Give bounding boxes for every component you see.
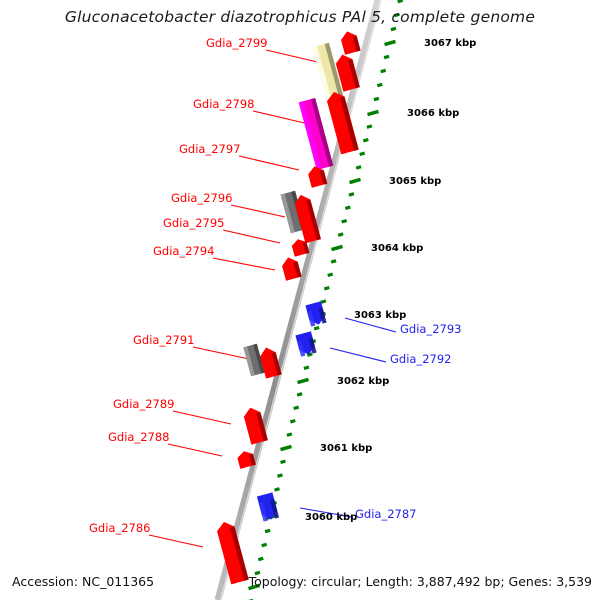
ruler-tick [398,0,403,1]
gene-blue-2792[interactable] [295,331,316,356]
ruler-tick-label: 3063 kbp [354,310,406,321]
ruler-tick [391,28,396,29]
ruler-tick [281,446,292,449]
gene-label-gdia_2791[interactable]: Gdia_2791 [133,334,194,346]
ruler-tick [368,111,379,114]
ruler-tick [290,420,295,421]
ruler-tick [332,246,343,249]
gene-leader-line [149,535,203,547]
ruler-tick-label: 3061 kbp [320,443,372,454]
ruler-tick [342,220,347,221]
gene-red-2791[interactable] [258,345,281,378]
gene-leader-line [239,156,299,170]
gene-leader-line [213,258,275,270]
ruler-tick-label: 3064 kbp [371,243,423,254]
gene-label-gdia_2786[interactable]: Gdia_2786 [89,522,150,534]
ruler-tick [314,327,319,328]
ruler-tick [374,98,379,99]
gene-blue-2793[interactable] [305,301,326,326]
ruler-tick-label: 3062 kbp [337,376,389,387]
topology-text: Topology: circular; Length: 3,887,492 bp… [249,574,592,589]
ruler-tick [349,194,354,195]
gene-red-col2-a[interactable] [339,29,360,54]
ruler-tick [275,489,280,490]
ruler-tick-label: 3065 kbp [389,176,441,187]
ruler-tick [367,126,372,127]
gene-label-gdia_2795[interactable]: Gdia_2795 [163,217,224,229]
gene-leader-line [330,348,386,362]
ruler-tick [281,461,286,462]
page-title: Gluconacetobacter diazotrophicus PAl 5, … [0,8,600,26]
ruler-tick [331,261,336,262]
ruler-tick [278,475,283,476]
gene-red-2794[interactable] [280,255,301,280]
status-bar: Accession: NC_011365 Topology: circular;… [0,574,600,594]
ruler-tick [258,558,263,559]
ruler-tick [265,530,270,531]
ruler-tick-label: 3066 kbp [407,108,459,119]
ruler-tick [328,274,333,275]
gene-magenta-2798[interactable] [299,98,334,170]
ruler-tick [338,234,343,235]
ruler-tick [262,544,267,545]
gene-label-gdia_2788[interactable]: Gdia_2788 [108,431,169,443]
gene-label-gdia_2796[interactable]: Gdia_2796 [171,192,232,204]
ruler-tick [384,56,389,57]
ruler-tick [294,407,299,408]
ruler-tick [324,287,329,288]
ruler-tick [350,179,361,182]
gene-leader-line [231,205,285,217]
ruler-tick [297,394,302,395]
ruler-tick [377,84,382,85]
gene-label-gdia_2793[interactable]: Gdia_2793 [400,323,461,335]
ruler-tick [345,207,350,208]
gene-leader-line [173,411,231,424]
ruler-tick [287,434,292,435]
ruler-tick [381,70,386,71]
gene-leader-line [168,444,222,456]
gene-label-gdia_2787[interactable]: Gdia_2787 [355,508,416,520]
accession-text: Accession: NC_011365 [12,574,154,589]
ruler-tick [298,379,309,382]
gene-blue-2787[interactable] [257,492,279,521]
genome-map-canvas[interactable] [0,0,600,600]
ruler-tick [304,367,309,368]
gene-leader-line [223,230,280,243]
ruler-tick [321,301,326,302]
ruler-tick [356,167,361,168]
genome-map-viewer: Gluconacetobacter diazotrophicus PAl 5, … [0,0,600,600]
gene-label-gdia_2792[interactable]: Gdia_2792 [390,353,451,365]
gene-features[interactable] [215,29,360,584]
gene-label-gdia_2794[interactable]: Gdia_2794 [153,245,214,257]
gene-label-gdia_2797[interactable]: Gdia_2797 [179,143,240,155]
ruler-tick [385,41,396,44]
gene-leader-lines [149,50,396,547]
gene-label-gdia_2799[interactable]: Gdia_2799 [206,37,267,49]
ruler-tick-label: 3067 kbp [424,38,476,49]
ruler-tick [360,153,365,154]
gene-label-gdia_2798[interactable]: Gdia_2798 [193,98,254,110]
ruler-tick-label: 3060 kbp [305,512,357,523]
gene-label-gdia_2789[interactable]: Gdia_2789 [113,398,174,410]
ruler-tick [363,139,368,140]
gene-leader-line [193,347,249,359]
